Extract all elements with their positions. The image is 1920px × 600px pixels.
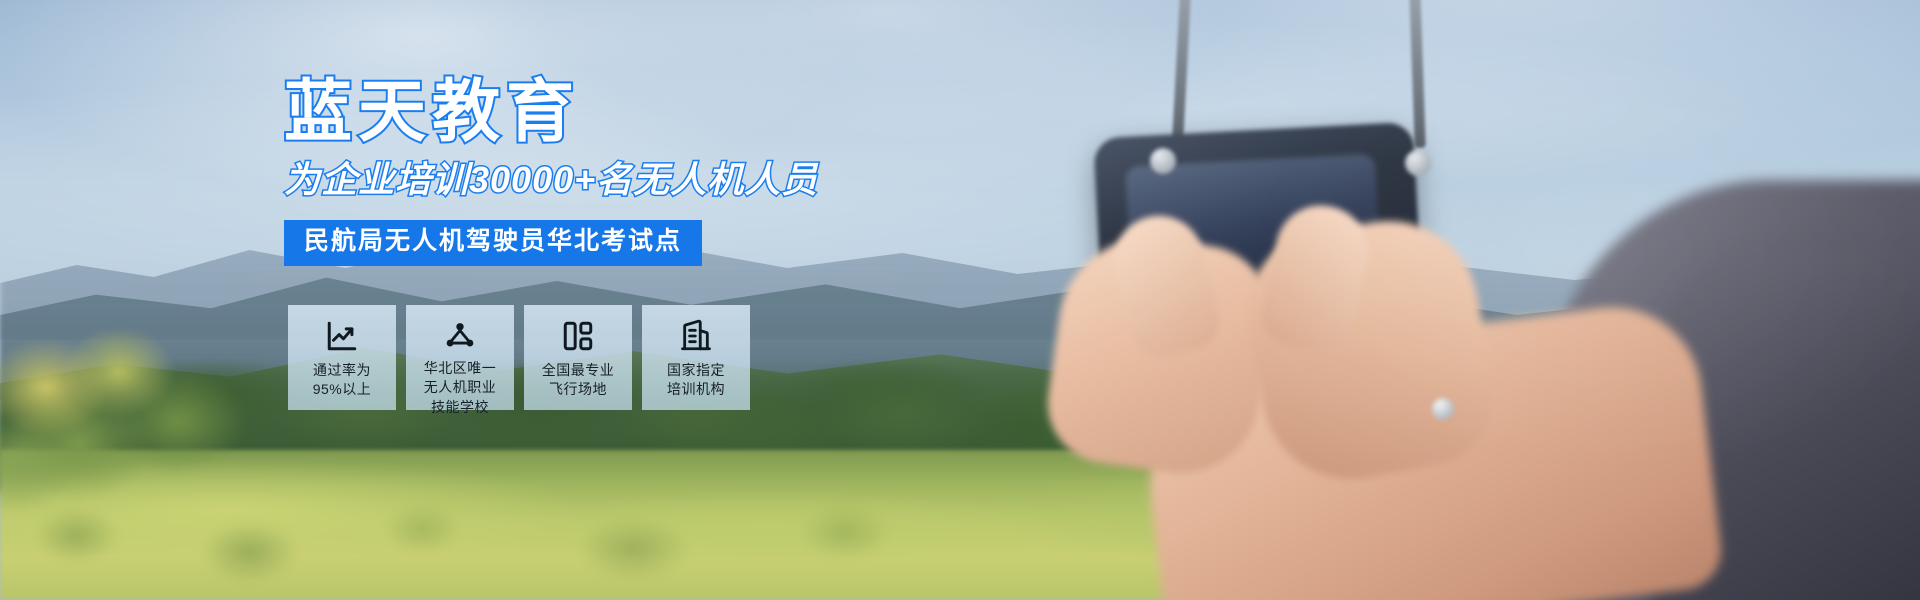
hero-banner: 蓝天教育 为企业培训30000+名无人机人员 民航局无人机驾驶员华北考试点 通过… (0, 0, 1920, 600)
institution-building-icon (679, 319, 713, 353)
foliage-left (0, 330, 310, 520)
feature-card[interactable]: 通过率为 95%以上 (288, 305, 396, 410)
trending-up-chart-icon (325, 319, 359, 353)
feature-card-list: 通过率为 95%以上 华北区唯一 无人机职业 技能学校 (288, 305, 750, 410)
feature-card[interactable]: 华北区唯一 无人机职业 技能学校 (406, 305, 514, 410)
feature-card-text: 通过率为 95%以上 (313, 361, 372, 400)
layout-panels-icon (561, 319, 595, 353)
feature-card[interactable]: 国家指定 培训机构 (642, 305, 750, 410)
feature-card-text: 全国最专业 飞行场地 (542, 361, 615, 400)
banner-subheadline: 为企业培训30000+名无人机人员 (284, 162, 1044, 198)
certification-badge: 民航局无人机驾驶员华北考试点 (284, 220, 702, 266)
feature-card[interactable]: 全国最专业 飞行场地 (524, 305, 632, 410)
banner-headline: 蓝天教育 (284, 78, 1044, 146)
depth-of-field-highlight (1100, 0, 1920, 600)
network-nodes-icon (443, 319, 477, 353)
feature-card-text: 华北区唯一 无人机职业 技能学校 (424, 359, 497, 417)
feature-card-text: 国家指定 培训机构 (667, 361, 725, 400)
banner-copy: 蓝天教育 为企业培训30000+名无人机人员 民航局无人机驾驶员华北考试点 (284, 78, 1044, 266)
